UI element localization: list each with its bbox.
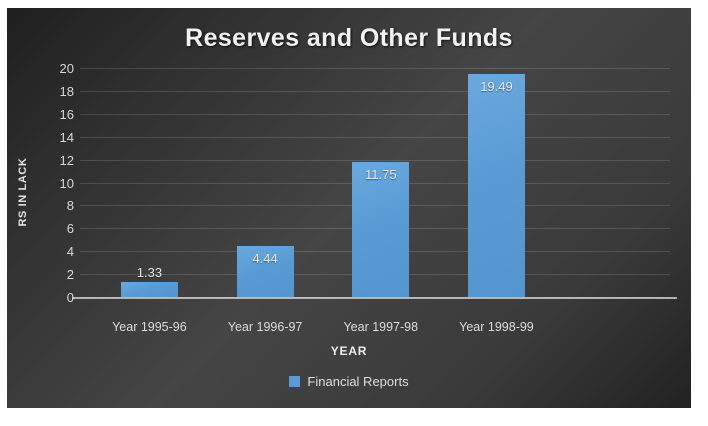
bar[interactable]: 11.75 (352, 162, 409, 297)
bar-value-label: 19.49 (468, 79, 525, 94)
legend-swatch-financial-reports (289, 376, 300, 387)
bar-value-label: 1.33 (121, 265, 178, 280)
y-axis-tick-label: 12 (44, 154, 74, 167)
x-axis-title: YEAR (7, 344, 691, 358)
y-axis-tick-label: 4 (44, 245, 74, 258)
bar[interactable]: 19.49 (468, 74, 525, 297)
y-axis-tick-label: 10 (44, 177, 74, 190)
bar[interactable]: 1.33 (121, 282, 178, 297)
gridline (80, 137, 670, 138)
y-axis-tick-label: 20 (44, 62, 74, 75)
chart-legend: Financial Reports (7, 374, 691, 389)
bar-value-label: 4.44 (237, 251, 294, 266)
y-axis-tick-label: 0 (44, 291, 74, 304)
y-axis-tick-label: 16 (44, 108, 74, 121)
y-axis-tick-label: 8 (44, 199, 74, 212)
y-axis-tick-label: 18 (44, 85, 74, 98)
gridline (80, 68, 670, 69)
bar-value-label: 11.75 (352, 167, 409, 182)
plot-area: 1.334.4411.7519.49 (80, 68, 670, 297)
chart-title: Reserves and Other Funds (7, 24, 691, 53)
y-axis-tick-label: 14 (44, 131, 74, 144)
y-axis-tick-label: 6 (44, 222, 74, 235)
x-axis-tick-label: Year 1995-96 (89, 320, 209, 334)
x-axis-tick-label: Year 1997-98 (321, 320, 441, 334)
gridline (80, 160, 670, 161)
gridline (80, 114, 670, 115)
y-axis-title: RS IN LACK (17, 142, 29, 242)
chart-panel: Reserves and Other Funds 201816141210864… (7, 8, 691, 408)
bar[interactable]: 4.44 (237, 246, 294, 297)
y-axis-tick-label: 2 (44, 268, 74, 281)
x-axis-tick-label: Year 1996-97 (205, 320, 325, 334)
x-axis-line (72, 297, 677, 299)
legend-label-financial-reports: Financial Reports (307, 374, 408, 389)
x-axis-tick-label: Year 1998-99 (436, 320, 556, 334)
gridline (80, 91, 670, 92)
